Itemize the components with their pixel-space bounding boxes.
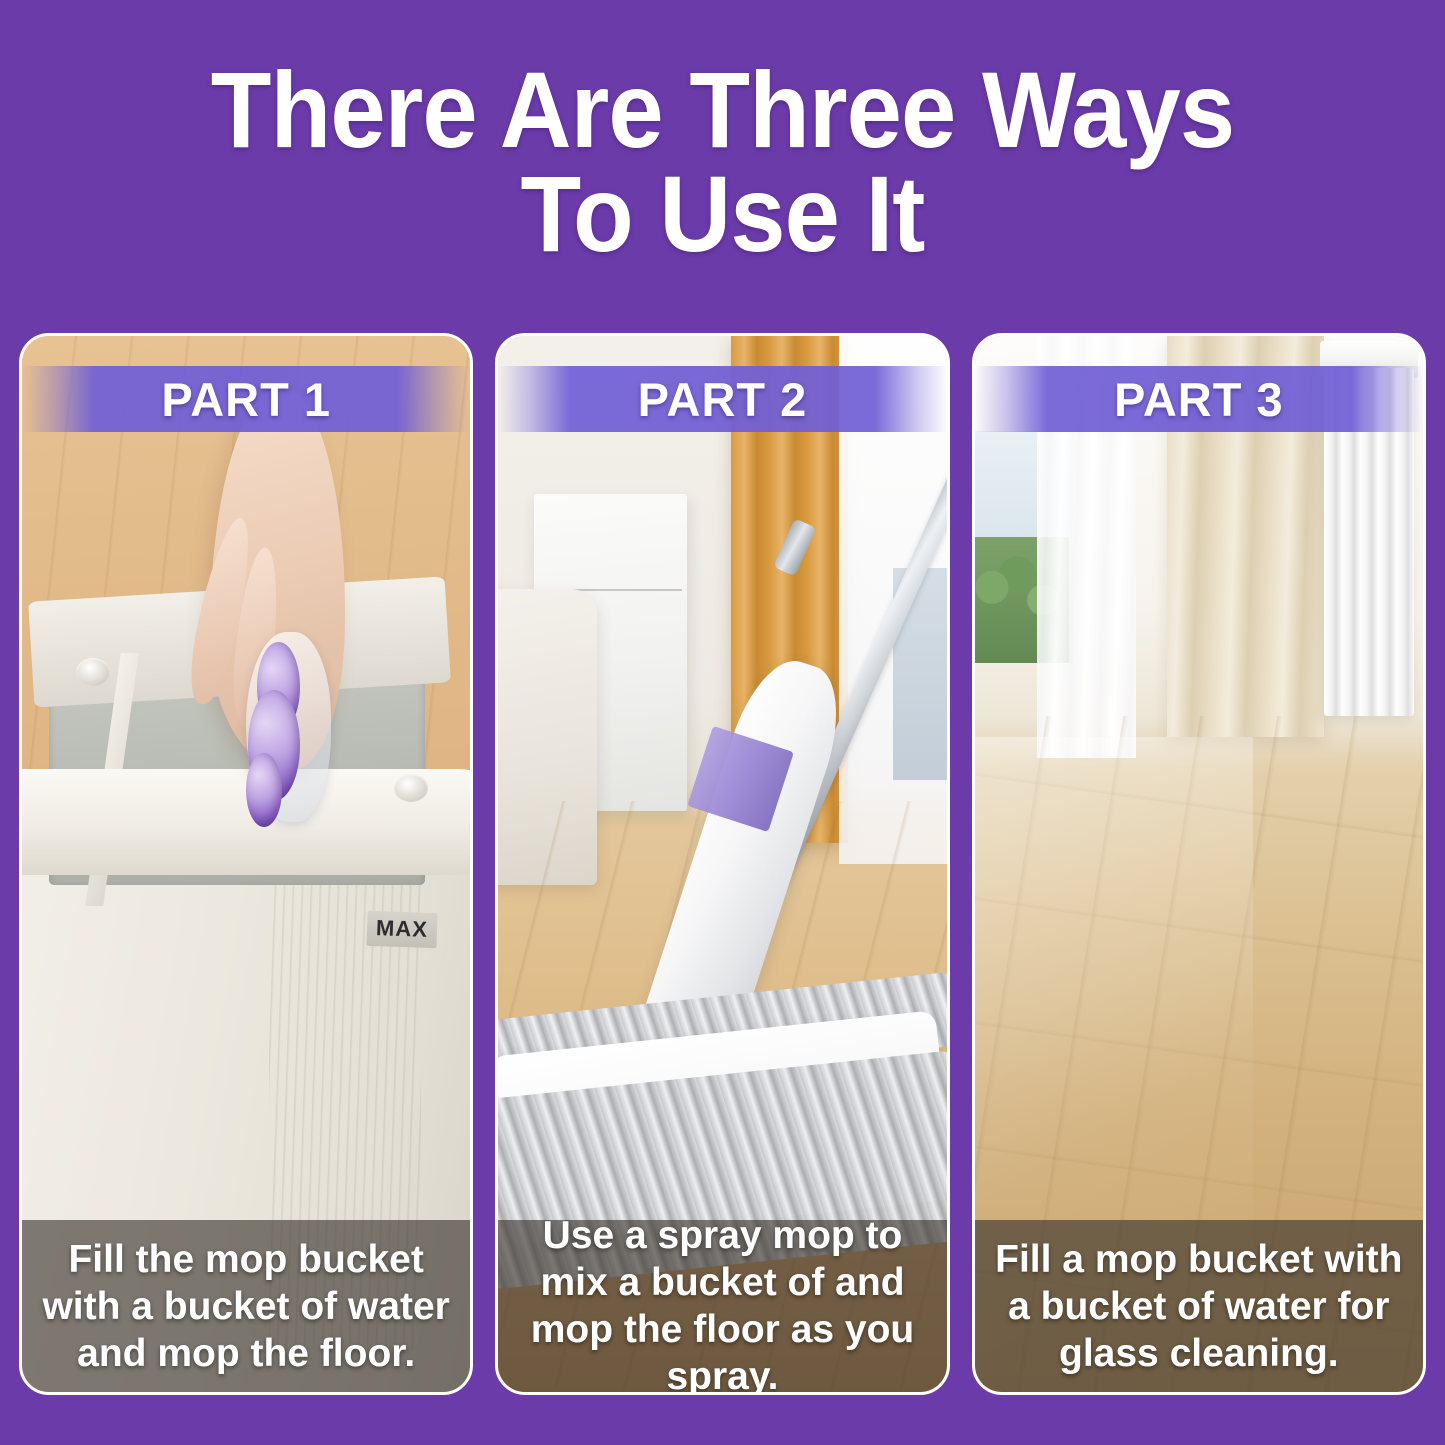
badge-part-1: PART 1 (22, 366, 470, 432)
panel-part-3: PART 3 Fill a mop bucket with a bucket o… (972, 333, 1426, 1395)
panel-part-2: PART 2 Use a spray mop to mix a bucket o… (495, 333, 949, 1395)
badge-part-2-label: PART 2 (638, 372, 808, 427)
caption-text-part-3: Fill a mop bucket with a bucket of water… (975, 1236, 1423, 1377)
caption-text-part-1: Fill the mop bucket with a bucket of wat… (22, 1236, 470, 1377)
badge-part-3: PART 3 (975, 366, 1423, 432)
bucket-screw-left (76, 658, 110, 686)
caption-text-part-2: Use a spray mop to mix a bucket of and m… (498, 1212, 946, 1395)
detergent-pod-bottom (246, 753, 282, 827)
badge-part-2: PART 2 (498, 366, 946, 432)
badge-part-3-label: PART 3 (1114, 372, 1284, 427)
panel-part-1: MAX PART 1 Fill the mop bucket with a bu… (19, 333, 473, 1395)
page-title: There Are Three Ways To Use It (58, 58, 1387, 266)
caption-bar-part-2: Use a spray mop to mix a bucket of and m… (498, 1220, 946, 1392)
headline-line-1: There Are Three Ways (58, 58, 1387, 162)
infographic-page: There Are Three Ways To Use It (0, 0, 1445, 1445)
badge-part-1-label: PART 1 (161, 372, 331, 427)
caption-bar-part-1: Fill the mop bucket with a bucket of wat… (22, 1220, 470, 1392)
panel-row: MAX PART 1 Fill the mop bucket with a bu… (19, 333, 1426, 1395)
max-fill-label: MAX (367, 910, 438, 947)
caption-bar-part-3: Fill a mop bucket with a bucket of water… (975, 1220, 1423, 1392)
headline-line-2: To Use It (58, 162, 1387, 266)
